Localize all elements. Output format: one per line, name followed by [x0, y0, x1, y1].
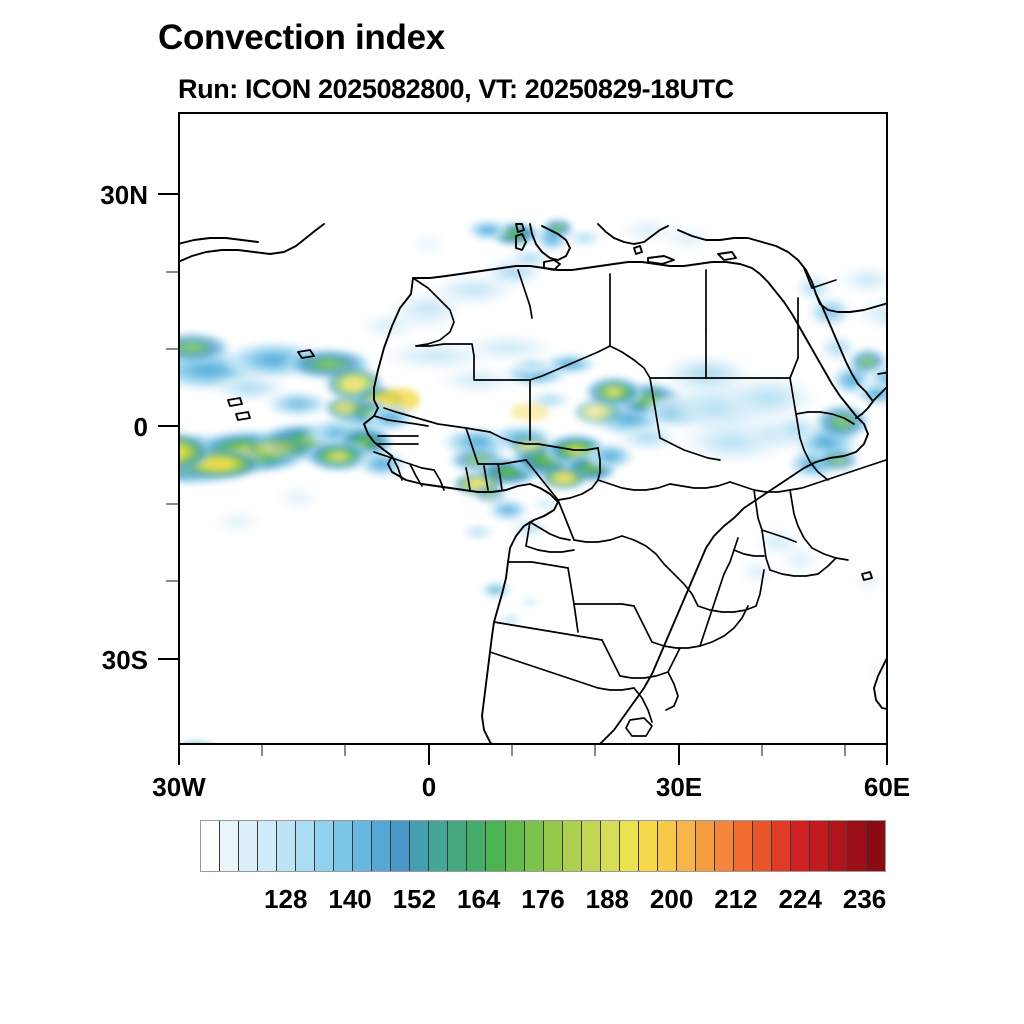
run-subtitle: Run: ICON 2025082800, VT: 20250829-18UTC [178, 74, 734, 105]
colorbar-segment-31 [790, 821, 809, 871]
colorbar-segment-11 [409, 821, 428, 871]
colorbar-segment-29 [752, 821, 771, 871]
map-plot-area[interactable] [178, 112, 888, 745]
colorbar-segment-26 [695, 821, 714, 871]
colorbar-segment-5 [295, 821, 314, 871]
colorbar-segment-18 [543, 821, 562, 871]
page-title: Convection index [158, 18, 445, 58]
colorbar-segment-22 [619, 821, 638, 871]
colorbar-segment-1 [219, 821, 238, 871]
ytick-major-30n [158, 193, 178, 195]
xtick-major-0 [428, 745, 430, 765]
colorbar[interactable] [200, 820, 886, 872]
colorbar-segment-20 [581, 821, 600, 871]
figure-root: Convection index Run: ICON 2025082800, V… [0, 0, 1024, 1024]
xtick-minor-20e [594, 745, 596, 756]
ytick-minor-10s [166, 503, 178, 505]
colorbar-segment-15 [485, 821, 504, 871]
colorbar-segment-27 [714, 821, 733, 871]
colorbar-segment-24 [657, 821, 676, 871]
xtick-minor-50e [844, 745, 846, 756]
xtick-minor-40e [761, 745, 763, 756]
colorbar-segment-12 [428, 821, 447, 871]
ytick-minor-10n [166, 348, 178, 350]
ytick-minor-20s [166, 580, 178, 582]
ytick-label-30s: 30S [28, 645, 148, 676]
xtick-minor-10w [344, 745, 346, 756]
colorbar-segment-33 [828, 821, 847, 871]
colorbar-segment-10 [390, 821, 409, 871]
colorbar-segment-32 [809, 821, 828, 871]
colorbar-segment-25 [676, 821, 695, 871]
ytick-label-0: 0 [28, 412, 148, 443]
colorbar-segment-17 [524, 821, 543, 871]
colorbar-segment-23 [638, 821, 657, 871]
xtick-minor-10e [511, 745, 513, 756]
colorbar-segment-8 [352, 821, 371, 871]
colorbar-segment-34 [847, 821, 866, 871]
xtick-label-30e: 30E [619, 772, 739, 803]
colorbar-segment-7 [333, 821, 352, 871]
xtick-minor-20w [261, 745, 263, 756]
xtick-major-30w [178, 745, 180, 765]
colorbar-segment-9 [371, 821, 390, 871]
ytick-major-30s [158, 658, 178, 660]
colorbar-segment-28 [733, 821, 752, 871]
xtick-label-0: 0 [369, 772, 489, 803]
xtick-label-60e: 60E [827, 772, 947, 803]
ytick-major-0 [158, 425, 178, 427]
colorbar-segment-21 [600, 821, 619, 871]
colorbar-segment-0 [201, 821, 219, 871]
ytick-label-30n: 30N [28, 180, 148, 211]
colorbar-segment-13 [447, 821, 466, 871]
ytick-minor-20n [166, 271, 178, 273]
xtick-label-30w: 30W [119, 772, 239, 803]
colorbar-segment-4 [276, 821, 295, 871]
colorbar-segment-2 [238, 821, 257, 871]
xtick-major-30e [678, 745, 680, 765]
colorbar-segment-16 [505, 821, 524, 871]
colorbar-segment-14 [466, 821, 485, 871]
map-canvas [178, 112, 888, 745]
colorbar-segment-30 [771, 821, 790, 871]
colorbar-segment-6 [314, 821, 333, 871]
xtick-major-60e [886, 745, 888, 765]
colorbar-segment-35 [866, 821, 885, 871]
colorbar-segment-19 [562, 821, 581, 871]
colorbar-segment-3 [257, 821, 276, 871]
colorbar-tick-label-236: 236 [825, 884, 905, 915]
